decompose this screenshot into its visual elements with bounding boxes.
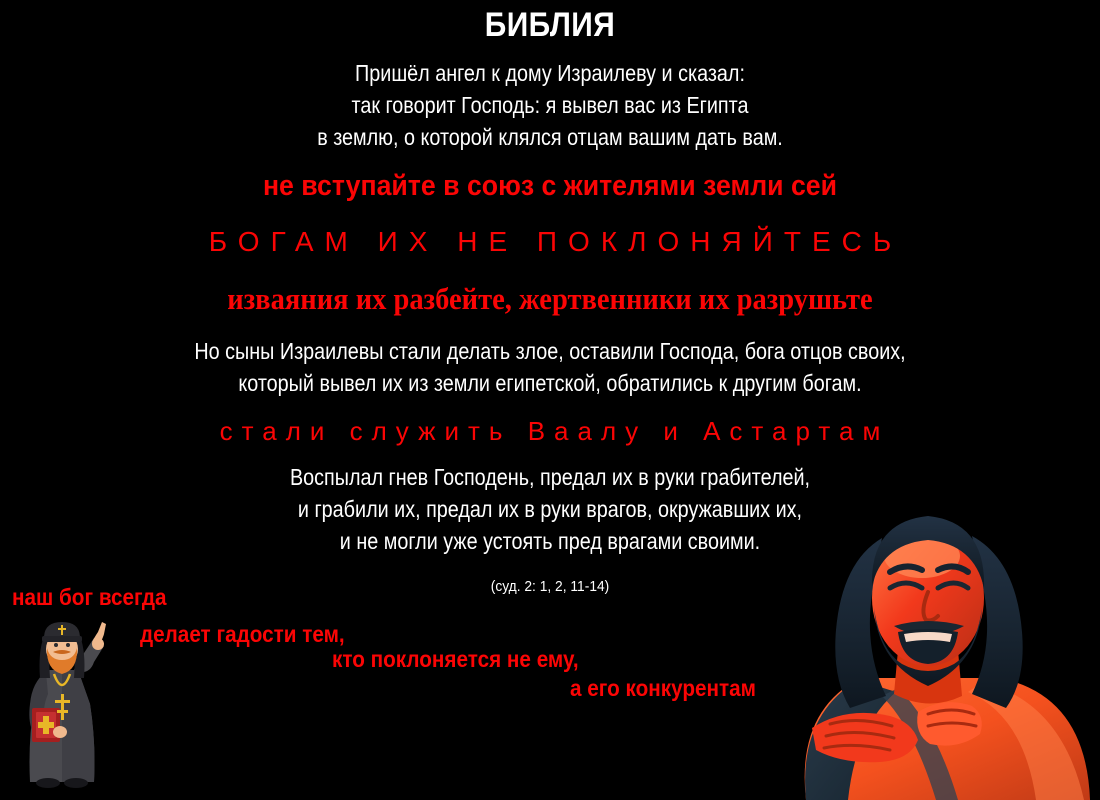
pectoral-cross-bar-bottom xyxy=(57,710,68,713)
poster-root: БИБЛИЯ Пришёл ангел к дому Израилеву и с… xyxy=(0,0,1100,800)
command-no-worship: БОГАМ ИХ НЕ ПОКЛОНЯЙТЕСЬ xyxy=(0,228,1100,256)
idolatry-line: стали служить Ваалу и Астартам xyxy=(0,418,1100,444)
scripture-wrath-line-1: Воспылал гнев Господень, предал их в рук… xyxy=(77,466,1023,489)
commentary-line-4: а его конкурентам xyxy=(570,677,756,700)
command-no-alliance: не вступайте в союз с жителями земли сей xyxy=(44,172,1056,201)
priest-shoe-right xyxy=(64,778,88,788)
commentary-line-3: кто поклоняется не ему, xyxy=(332,648,579,671)
priest-hat-brim xyxy=(42,636,82,642)
priest-shoe-left xyxy=(36,778,60,788)
hat-cross-bar xyxy=(58,628,66,630)
commentary-line-2: делает гадости тем, xyxy=(140,623,345,646)
scripture-intro-line-2: так говорит Господь: я вывел вас из Егип… xyxy=(77,94,1023,117)
command-destroy-idols: изваяния их разбейте, жертвенники их раз… xyxy=(44,283,1056,314)
pectoral-cross-bar-top xyxy=(55,700,70,703)
scripture-intro-line-1: Пришёл ангел к дому Израилеву и сказал: xyxy=(77,62,1023,85)
commentary-line-1: наш бог всегда xyxy=(12,586,167,609)
priest-cassock-shadow xyxy=(62,670,95,782)
priest-book-hand xyxy=(53,726,67,738)
scripture-middle-line-1: Но сыны Израилевы стали делать злое, ост… xyxy=(77,340,1023,363)
orthodox-priest-illustration xyxy=(16,612,112,797)
scripture-intro-line-3: в землю, о которой клялся отцам вашим да… xyxy=(77,126,1023,149)
book-ornament-horizontal xyxy=(38,722,54,728)
pectoral-cross-icon xyxy=(61,694,64,720)
page-title: БИБЛИЯ xyxy=(66,8,1034,42)
priest-eye-right xyxy=(66,643,70,647)
laughing-jesus-illustration xyxy=(786,500,1100,800)
priest-eye-left xyxy=(54,643,58,647)
priest-hand xyxy=(92,638,104,650)
scripture-middle-line-2: который вывел их из земли египетской, об… xyxy=(77,372,1023,395)
